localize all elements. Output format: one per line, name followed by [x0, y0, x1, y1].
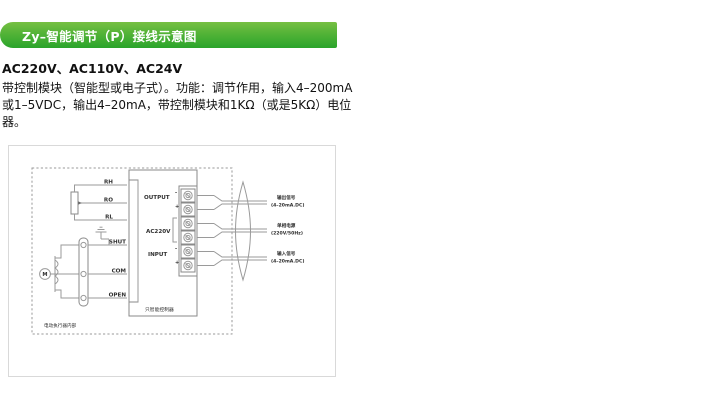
- ground-icon: [96, 227, 110, 243]
- section-banner: Zy–智能调节（P）接线示意图: [0, 22, 337, 48]
- potentiometer-body: [71, 192, 78, 214]
- right-label-power-range: (220V/50Hz): [271, 231, 303, 237]
- terminal-mark-output-minus: -: [175, 190, 177, 196]
- terminal-group-label-ac220v: AC220V: [146, 229, 171, 235]
- right-label-output-range: (4–20mA.DC): [271, 203, 304, 209]
- right-label-input-range: (4–20mA.DC): [271, 259, 304, 265]
- page-root: Zy–智能调节（P）接线示意图 AC220V、AC110V、AC24V 带控制模…: [0, 0, 704, 403]
- screw-terminal-group: [181, 189, 195, 272]
- right-label-power-title: 单相电源: [277, 222, 296, 229]
- controller-label: 只智能控制器: [145, 306, 174, 313]
- diagram-panel: .ln { stroke:#9a9a9a; stroke-width:1; fi…: [8, 145, 336, 377]
- enclosure-label: 电动执行器内部: [44, 322, 77, 329]
- terminal-group-label-output: OUTPUT: [144, 195, 170, 201]
- potentiometer-group: [71, 185, 127, 220]
- banner-title: Zy–智能调节（P）接线示意图: [22, 26, 197, 45]
- voltage-subheading: AC220V、AC110V、AC24V: [2, 58, 182, 77]
- right-label-output-title: 输出信号: [277, 194, 296, 201]
- right-label-input-title: 输入信号: [277, 250, 296, 257]
- description-paragraph: 带控制模块（智能型或电子式）。功能：调节作用，输入4–200mA或1–5VDC，…: [2, 80, 362, 131]
- motor-group: M: [40, 245, 83, 298]
- left-terminal-label-com: COM: [112, 269, 127, 275]
- cable-bundle: [236, 182, 268, 280]
- left-terminal-label-shut: SHUT: [109, 240, 126, 246]
- terminal-wires: [197, 196, 237, 266]
- left-terminal-label-rl: RL: [105, 215, 113, 221]
- terminal-mark-output-plus: +: [175, 204, 179, 210]
- terminal-group-label-input: INPUT: [148, 252, 167, 258]
- contact-strip: [79, 238, 88, 306]
- left-terminal-label-rh: RH: [104, 180, 113, 186]
- terminal-mark-input-plus: +: [175, 260, 179, 266]
- controller-left-strip: [129, 180, 138, 302]
- left-terminal-label-ro: RO: [104, 198, 113, 204]
- left-terminal-label-open: OPEN: [109, 293, 127, 299]
- terminal-mark-input-minus: -: [175, 246, 177, 252]
- motor-symbol-label: M: [42, 272, 47, 278]
- wiring-diagram-svg: .ln { stroke:#9a9a9a; stroke-width:1; fi…: [9, 146, 337, 378]
